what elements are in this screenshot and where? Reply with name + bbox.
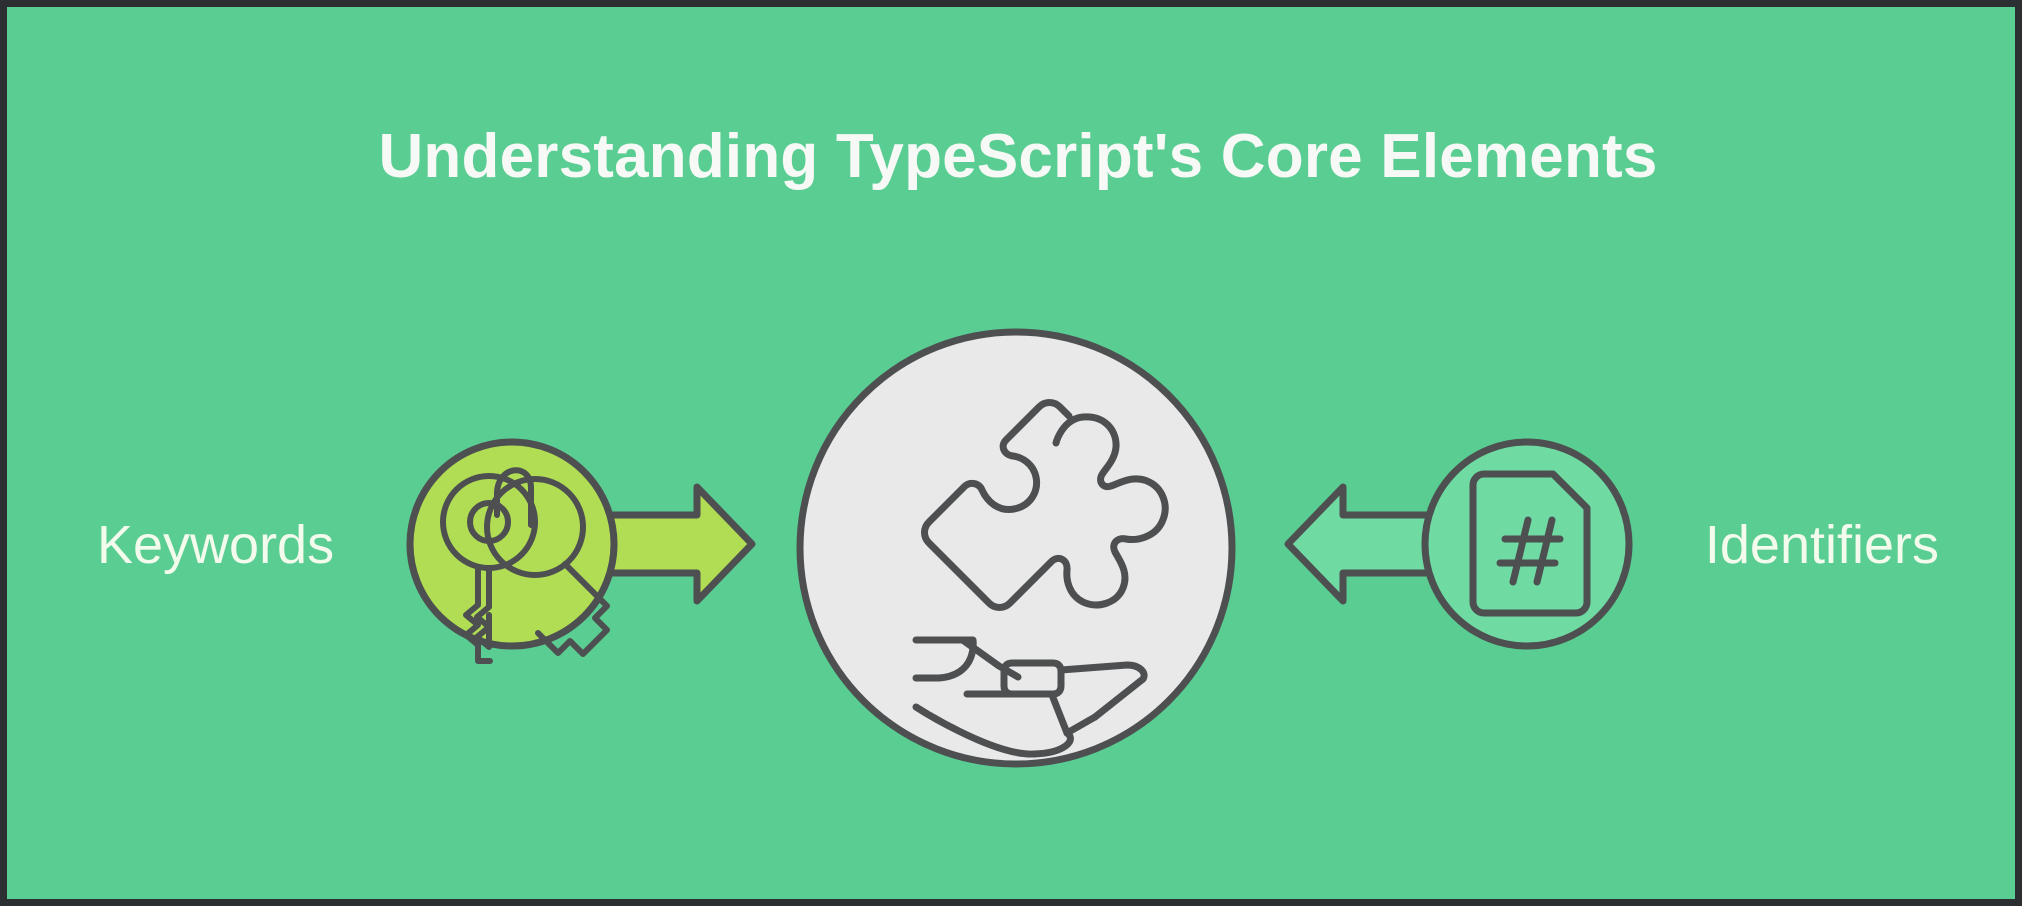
node-identifiers[interactable] <box>1425 442 1629 646</box>
node-center[interactable] <box>800 332 1232 764</box>
center-circle[interactable] <box>800 332 1232 764</box>
label-identifiers: Identifiers <box>1705 515 1939 575</box>
page-title: Understanding TypeScript's Core Elements <box>378 122 1657 191</box>
label-keywords: Keywords <box>97 515 334 575</box>
infographic-canvas: Understanding TypeScript's Core Elements <box>0 0 2022 906</box>
diagram-svg: Understanding TypeScript's Core Elements <box>7 7 2022 906</box>
node-keywords[interactable] <box>410 442 614 661</box>
